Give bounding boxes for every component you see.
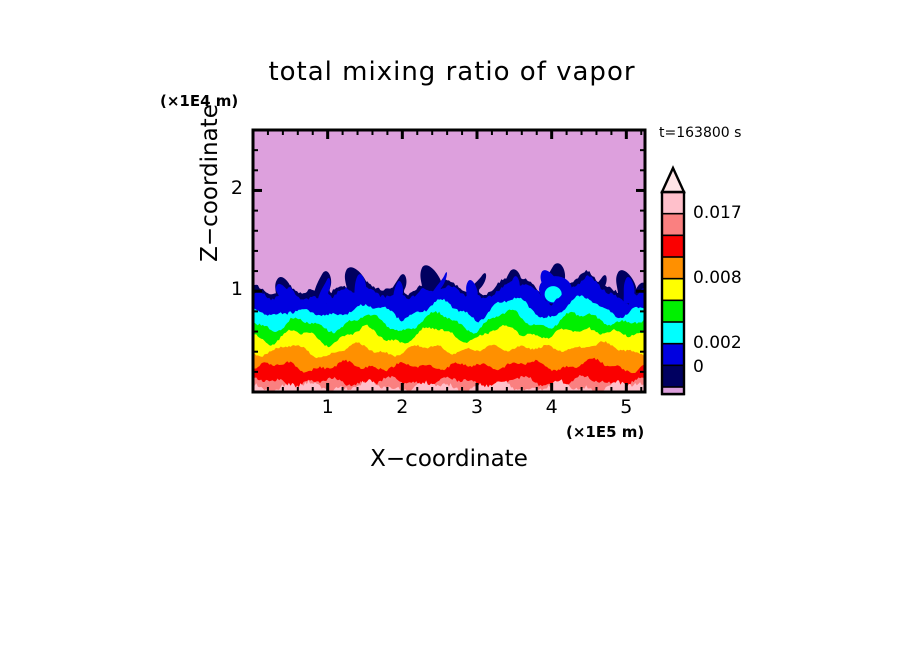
colorbar-tick-label: 0.008 [693, 268, 742, 288]
contour-plot [0, 0, 904, 654]
band-blue [662, 344, 684, 366]
colorbar-arrow-cap [662, 168, 684, 192]
band-orange [662, 257, 684, 279]
band-navy [662, 365, 684, 387]
contour-field [253, 130, 645, 392]
band-red [662, 235, 684, 257]
band-cyan [662, 322, 684, 344]
x-tick-label: 4 [532, 396, 572, 418]
colorbar [662, 168, 684, 395]
band-salmon [662, 214, 684, 236]
band-light-pink [662, 192, 684, 214]
colorbar-tick-label: 0.017 [693, 203, 742, 223]
band-green [662, 300, 684, 322]
x-tick-label: 2 [382, 396, 422, 418]
x-axis-title: X−coordinate [253, 446, 645, 472]
y-tick-label: 2 [209, 177, 243, 199]
x-axis-unit-label: (×1E5 m) [566, 423, 644, 441]
band-yellow [662, 279, 684, 301]
x-tick-label: 3 [457, 396, 497, 418]
colorbar-tick-label: 0.002 [693, 333, 742, 353]
figure-canvas: total mixing ratio of vapor (×1E4 m) t=1… [0, 0, 904, 654]
x-tick-label: 1 [308, 396, 348, 418]
y-tick-label: 1 [209, 278, 243, 300]
colorbar-tick-label: 0 [693, 357, 704, 377]
x-tick-label: 5 [606, 396, 646, 418]
